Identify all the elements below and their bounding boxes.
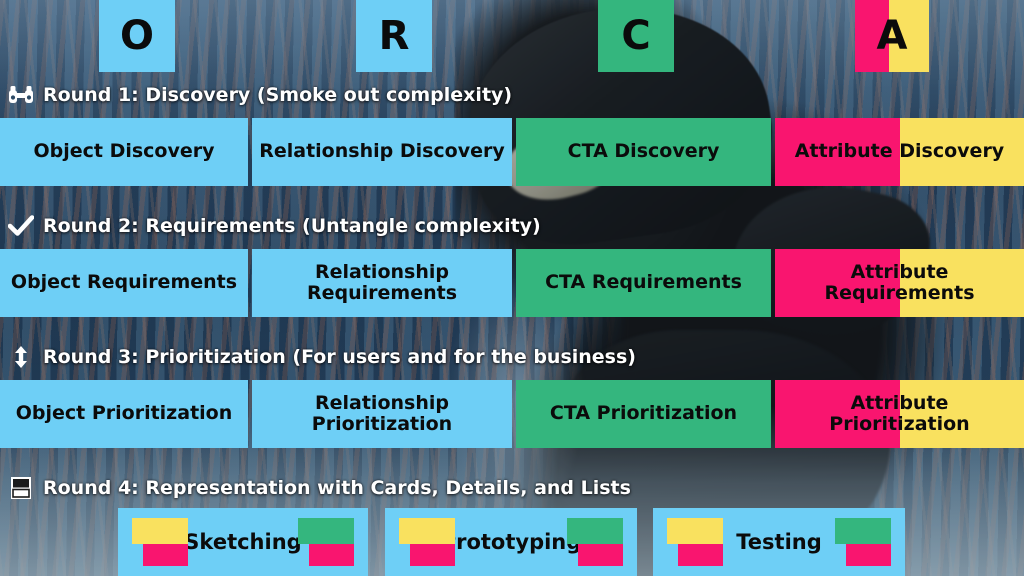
round-4-heading-text: Round 4: Representation with Cards, Deta… — [43, 479, 631, 498]
chip-testing-label: Testing — [736, 530, 822, 554]
acronym-letter-a: A — [855, 0, 929, 72]
chip-sketching[interactable]: Sketching — [118, 508, 368, 576]
round-1-heading: Round 1: Discovery (Smoke out complexity… — [8, 83, 512, 107]
acronym-letter-r-text: R — [379, 13, 410, 59]
cell-attribute-requirements[interactable]: Attribute Requirements — [775, 249, 1024, 317]
acronym-letter-c-text: C — [621, 13, 650, 59]
acronym-letter-c: C — [598, 0, 674, 72]
round-2-heading: Round 2: Requirements (Untangle complexi… — [8, 214, 541, 238]
cell-relationship-discovery[interactable]: Relationship Discovery — [252, 118, 512, 186]
acronym-letter-r: R — [356, 0, 432, 72]
acronym-letter-o-text: O — [120, 13, 154, 59]
round-3-heading-text: Round 3: Prioritization (For users and f… — [43, 348, 636, 367]
check-icon — [8, 214, 34, 238]
acronym-letter-o: O — [99, 0, 175, 72]
acronym-letter-a-text: A — [877, 13, 908, 59]
chip-testing[interactable]: Testing — [653, 508, 905, 576]
sketching-swatch-right-icon — [298, 518, 354, 564]
round-1-heading-text: Round 1: Discovery (Smoke out complexity… — [43, 86, 512, 105]
binoculars-icon — [8, 83, 34, 107]
testing-swatch-left-icon — [667, 518, 723, 564]
cell-attribute-prioritization[interactable]: Attribute Prioritization — [775, 380, 1024, 448]
cell-relationship-requirements[interactable]: Relationship Requirements — [252, 249, 512, 317]
slide-content: O R C A Round 1: Discovery (Smoke out co… — [0, 0, 1024, 576]
round-4-band: Sketching Prototyping Testing — [0, 508, 1024, 576]
cell-object-prioritization[interactable]: Object Prioritization — [0, 380, 248, 448]
cell-attribute-discovery[interactable]: Attribute Discovery — [775, 118, 1024, 186]
round-4-heading: Round 4: Representation with Cards, Deta… — [8, 476, 631, 500]
cell-cta-requirements[interactable]: CTA Requirements — [516, 249, 771, 317]
cell-object-discovery[interactable]: Object Discovery — [0, 118, 248, 186]
round-2-heading-text: Round 2: Requirements (Untangle complexi… — [43, 217, 541, 236]
card-layout-icon — [8, 476, 34, 500]
chip-sketching-label: Sketching — [184, 530, 301, 554]
testing-swatch-right-icon — [835, 518, 891, 564]
up-down-arrow-icon — [8, 345, 34, 369]
round-2-band: Object Requirements Relationship Require… — [0, 249, 1024, 317]
cell-relationship-prioritization[interactable]: Relationship Prioritization — [252, 380, 512, 448]
chip-prototyping-label: Prototyping — [441, 530, 582, 554]
prototyping-swatch-right-icon — [567, 518, 623, 564]
cell-cta-prioritization[interactable]: CTA Prioritization — [516, 380, 771, 448]
cell-cta-discovery[interactable]: CTA Discovery — [516, 118, 771, 186]
chip-prototyping[interactable]: Prototyping — [385, 508, 637, 576]
sketching-swatch-left-icon — [132, 518, 188, 564]
cell-object-requirements[interactable]: Object Requirements — [0, 249, 248, 317]
round-3-heading: Round 3: Prioritization (For users and f… — [8, 345, 636, 369]
round-1-band: Object Discovery Relationship Discovery … — [0, 118, 1024, 186]
round-3-band: Object Prioritization Relationship Prior… — [0, 380, 1024, 448]
prototyping-swatch-left-icon — [399, 518, 455, 564]
